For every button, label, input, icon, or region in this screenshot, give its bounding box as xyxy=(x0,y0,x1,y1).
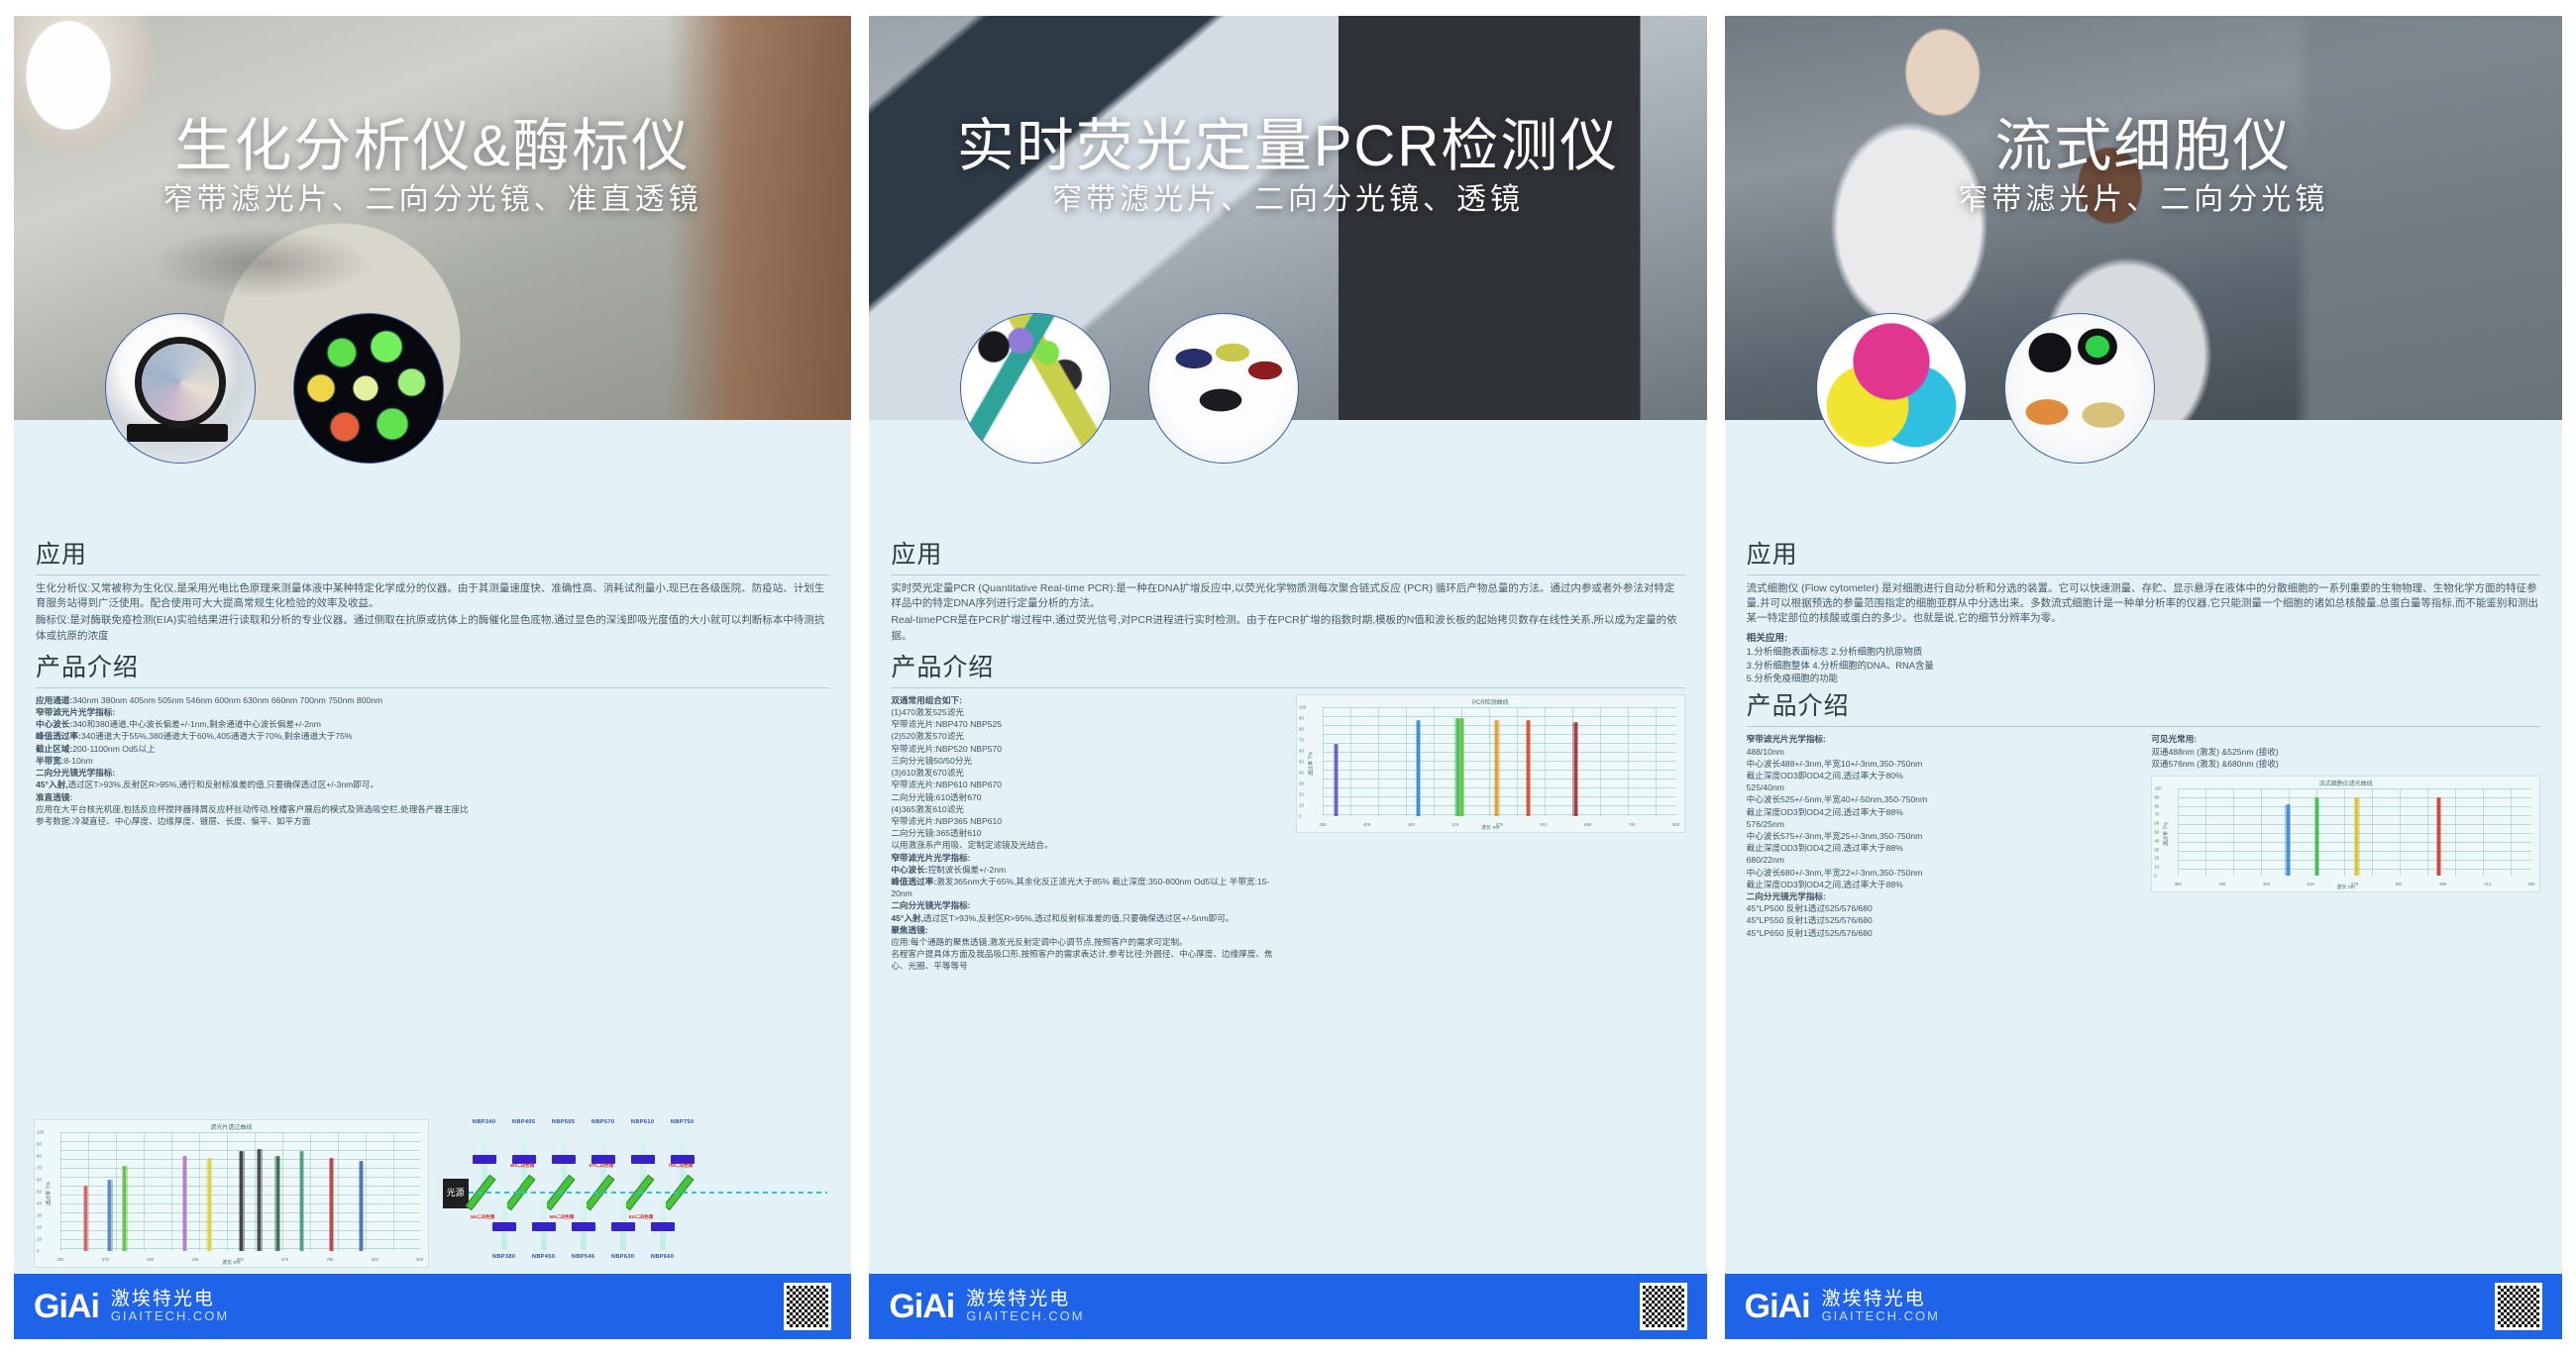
spectral-chart: 滤光片透过曲线 透过率 T% 0102030405060708090100300… xyxy=(34,1119,429,1268)
filter-label: NBP630 xyxy=(611,1254,635,1260)
product-heading: 产品介绍 xyxy=(1747,686,2540,722)
application-paragraph: 实时荧光定量PCR (Quantitative Real-time PCR):是… xyxy=(891,581,1684,611)
spec-line: 名程客户提具体方面及我品吸口形,按照客户的需求表达计,参考比径:外圆径、中心厚度… xyxy=(891,948,1280,972)
spec-value: 应用:每个通路的聚焦透镜,激发光反射定调中心调节点,按照客户的需求可定制。 xyxy=(891,937,1187,947)
chart-ylabel: 透过率 T% xyxy=(1307,752,1314,776)
spec-label: 峰值透过率: xyxy=(36,731,81,741)
spec-line: 中心波长680+/-3nm,半宽22+/-3nm,350-750nm xyxy=(1747,867,2136,879)
spec-value: 截止深度OD3到OD4之间,透过率大于88% xyxy=(1747,843,1903,853)
spec-line: 45°LP550 反射1透过525/576/680 xyxy=(1747,914,2136,926)
spec-value: 双通488nm (激发) &525nm (接收) xyxy=(2151,747,2278,757)
chart-ytick: 80 xyxy=(1299,726,1304,731)
dichroic-label: 750二向色镜 xyxy=(669,1163,693,1169)
spec-line: 中心波长575+/-3nm,半宽25+/-3nm,350-750nm xyxy=(1747,830,2136,842)
spec-line: 峰值透过率:激发365nm大于65%,其余化反正滤光大于85% 截止深度:350… xyxy=(891,876,1280,899)
chart-plot: 0102030405060708090100350406463519575631… xyxy=(1323,707,1676,816)
filter-label: NBP405 xyxy=(512,1119,536,1125)
panel-flow-cytometer: 流式细胞仪 窄带滤光片、二向分光镜 应用 流式细胞仪 (Flow cytomet… xyxy=(1725,16,2562,1339)
spec-list-left: 窄带滤光片光学指标:488/10nm中心波长488+/-3nm,半宽10+/-3… xyxy=(1747,733,2136,938)
divider xyxy=(1747,726,2540,727)
chart-ytick: 80 xyxy=(2154,803,2159,808)
spec-line: 45°LP650 反射1透过525/576/680 xyxy=(1747,927,2136,939)
brand-name-cn: 激埃特光电 xyxy=(1822,1290,1940,1309)
spec-value: 二向分光镜:365透射610 xyxy=(891,828,981,838)
optical-path-diagram: 光源 NBP340340二向色镜NBP405405二向色镜NBP505505二向… xyxy=(439,1119,832,1268)
spec-value: 8-10nm xyxy=(64,756,93,766)
filter-label: NBP750 xyxy=(671,1119,695,1125)
brand-logo: GiAi 激埃特光电 GIAITECH.COM xyxy=(889,1288,1084,1326)
page-subtitle: 窄带滤光片、二向分光镜、透镜 xyxy=(869,174,1706,218)
product-photo-row xyxy=(1725,420,2562,527)
chart-peak xyxy=(2357,797,2360,876)
product-photo-row xyxy=(869,420,1706,527)
spec-line: 二向分光镜光学指标: xyxy=(1747,890,2136,902)
spec-line: 截止深度OD3到OD4之间,透过率大于88% xyxy=(1747,806,2136,818)
spec-line: 截止深度OD3到OD4之间,透过率大于88% xyxy=(1747,842,2136,854)
chart-peak xyxy=(209,1158,212,1251)
brand-logo: GiAi 激埃特光电 GIAITECH.COM xyxy=(1745,1288,1940,1326)
chart-peak xyxy=(1336,744,1339,816)
light-source-label: 光源 xyxy=(443,1179,469,1208)
chart-ytick: 90 xyxy=(1299,715,1304,720)
filter-label: NBP570 xyxy=(591,1119,615,1125)
filter-label: NBP450 xyxy=(532,1254,556,1260)
chart-ytick: 60 xyxy=(2154,821,2159,826)
spec-label: 准直透镜: xyxy=(36,792,72,802)
spec-line: (2)520激发570滤光 xyxy=(891,730,1280,742)
spec-label: 双通常用组合如下: xyxy=(891,695,962,705)
spec-line: 二向分光镜:365透射610 xyxy=(891,827,1280,839)
spec-label: 二向分光镜光学指标: xyxy=(36,768,115,778)
spec-line: 窄带滤光片光学指标: xyxy=(891,852,1280,864)
chart-peak xyxy=(260,1149,263,1251)
filter-label: NBP380 xyxy=(492,1254,516,1260)
spectral-chart: PCR检测曲线 透过率 T% 0102030405060708090100350… xyxy=(1296,694,1685,833)
chart-ytick: 30 xyxy=(37,1213,42,1218)
spec-value: 窄带滤光片:NBP470 NBP525 xyxy=(891,719,1002,729)
spec-value: 截止深度OD3到OD4之间,透过率大于88% xyxy=(1747,807,1903,817)
spec-value: 激发365nm大于65%,其余化反正滤光大于85% 截止深度:350-800nm… xyxy=(891,877,1269,898)
dichroic-label: 570二向色镜 xyxy=(590,1163,613,1169)
chart-peak xyxy=(110,1180,113,1251)
spec-value: (3)610激发670滤光 xyxy=(891,768,964,778)
spectral-chart: 流式细胞仪滤光曲线 透过率 T% 01020304050607080901003… xyxy=(2151,776,2540,892)
spec-line: 中心波长:340和380通道,中心波长偏差+/-1nm,剩余通道中心波长偏差+/… xyxy=(36,718,829,730)
spec-value: (1)470激发525滤光 xyxy=(891,707,964,717)
chart-ytick: 40 xyxy=(2154,838,2159,843)
chart-ytick: 20 xyxy=(1299,791,1304,796)
chart-ytick: 50 xyxy=(1299,759,1304,764)
narrow-band-filter xyxy=(611,1222,635,1231)
spec-value: 340和380通道,中心波长偏差+/-1nm,剩余通道中心波长偏差+/-2nm xyxy=(72,719,321,729)
logo-mark: GiAi xyxy=(34,1288,99,1326)
chart-ylabel: 透过率 T% xyxy=(45,1182,52,1205)
spec-line: 窄带滤光片:NBP520 NBP570 xyxy=(891,743,1280,755)
divider xyxy=(891,687,1684,688)
chart-peak xyxy=(1418,720,1421,816)
spec-list: 应用通道:340nm 380nm 405nm 505nm 546nm 600nm… xyxy=(36,694,829,827)
brand-url: GIAITECH.COM xyxy=(966,1309,1084,1323)
spec-value: 透过区T>93%,反射区R>95%,通行和反射标准差的值,只要确保透过区+/-3… xyxy=(68,780,378,789)
filter-label: NBP546 xyxy=(572,1254,595,1260)
page-title: 实时荧光定量PCR检测仪 xyxy=(869,99,1706,182)
chart-peak xyxy=(2316,797,2319,876)
qr-code-icon[interactable] xyxy=(784,1283,831,1330)
spec-value: 控制波长偏差+/-2nm xyxy=(928,865,1007,875)
spec-label: 窄带滤光片光学指标: xyxy=(1747,734,1826,744)
spec-value: 截止深度OD3到OD4之间,透过率大于88% xyxy=(1747,880,1903,889)
chart-ytick: 30 xyxy=(1299,781,1304,785)
spec-label: 聚焦透镜: xyxy=(891,925,927,935)
spec-line: 3.分析细胞整体 4.分析细胞的DNA、RNA含量 xyxy=(1747,659,2540,672)
dichroic-label: 610二向色镜 xyxy=(629,1214,653,1220)
spec-value: 680/22nm xyxy=(1747,855,1784,865)
product-photo-collimating-lens xyxy=(105,313,256,464)
chart-peak xyxy=(301,1151,304,1251)
poster-sheet: 生化分析仪&酶标仪 窄带滤光片、二向分光镜、准直透镜 应用 生化分析仪:又常被称… xyxy=(0,0,2576,1355)
spec-value: 340nm 380nm 405nm 505nm 546nm 600nm 630n… xyxy=(72,695,382,705)
spec-line: 5.分析免疫细胞的功能 xyxy=(1747,672,2540,684)
spec-value: 576/25nm xyxy=(1747,819,1784,829)
chart-title: 滤光片透过曲线 xyxy=(35,1122,428,1131)
chart-ytick: 10 xyxy=(37,1237,42,1242)
chart-peak xyxy=(184,1156,187,1251)
qr-code-icon[interactable] xyxy=(1640,1283,1687,1330)
narrow-band-filter xyxy=(532,1222,556,1231)
spec-line: 峰值透过率:340通道大于55%,380通道大于60%,405通道大于70%,剩… xyxy=(36,730,829,742)
chart-ytick: 20 xyxy=(2154,856,2159,861)
product-photo-color-venn xyxy=(1816,313,1967,464)
spec-value: 名程客户提具体方面及我品吸口形,按照客户的需求表达计,参考比径:外圆径、中心厚度… xyxy=(891,949,1272,971)
panel-body: 应用 流式细胞仪 (Flow cytometer) 是对细胞进行自动分析和分选的… xyxy=(1725,527,2562,1274)
chart-ytick: 60 xyxy=(1299,748,1304,753)
spec-line: 三向分光镜50/50分光 xyxy=(891,755,1280,767)
spec-value: 三向分光镜50/50分光 xyxy=(891,756,972,766)
application-paragraph: 流式细胞仪 (Flow cytometer) 是对细胞进行自动分析和分选的装置。… xyxy=(1747,581,2540,627)
spec-line: 准直透镜: xyxy=(36,791,829,803)
spec-value: 中心波长525+/-5nm,半宽40+/-50nm,350-750nm xyxy=(1747,794,1927,804)
chart-ytick: 100 xyxy=(1299,704,1306,709)
spec-label: 二向分光镜光学指标: xyxy=(891,900,970,910)
chart-ytick: 40 xyxy=(1299,770,1304,775)
spec-line: 双通常用组合如下: xyxy=(891,694,1280,706)
spec-value: 以用激涨系产用吸、定制定滤镜及光结合。 xyxy=(891,840,1052,850)
spec-line: 截止深度OD3即OD4之间,透过率大于80% xyxy=(1747,770,2136,782)
panel-body: 应用 生化分析仪:又常被称为生化仪,是采用光电比色原理来测量体液中某种特定化学成… xyxy=(14,527,851,1115)
spec-line: 可见光常用: xyxy=(2151,733,2540,745)
chart-peak xyxy=(85,1186,88,1251)
spec-line: 二向分光镜:610透射670 xyxy=(891,791,1280,803)
logo-mark: GiAi xyxy=(1745,1288,1810,1326)
spec-label: 应用通道: xyxy=(36,695,72,705)
spec-label: 中心波长: xyxy=(36,719,72,729)
spec-value: 45°LP500 反射1透过525/576/680 xyxy=(1747,903,1873,913)
spec-label: 二向分光镜光学指标: xyxy=(1747,891,1826,901)
product-photo-row xyxy=(14,420,851,527)
dichroic-label: 340二向色镜 xyxy=(471,1214,494,1220)
chart-title: 流式细胞仪滤光曲线 xyxy=(2152,779,2539,787)
logo-mark: GiAi xyxy=(889,1288,954,1326)
spec-value: 窄带滤光片:NBP365 NBP610 xyxy=(891,816,1002,826)
chart-peak xyxy=(1575,722,1578,816)
chart-ytick: 80 xyxy=(37,1154,42,1159)
spec-label: 中心波长: xyxy=(891,865,927,875)
figure-row: 滤光片透过曲线 透过率 T% 0102030405060708090100300… xyxy=(14,1115,851,1274)
chart-ytick: 10 xyxy=(1299,802,1304,807)
divider xyxy=(36,574,829,575)
brand-url: GIAITECH.COM xyxy=(111,1309,229,1323)
page-subtitle: 窄带滤光片、二向分光镜、准直透镜 xyxy=(14,174,851,218)
chart-plot: 0102030405060708090100350406463519575631… xyxy=(2178,788,2531,876)
brand-name-cn: 激埃特光电 xyxy=(966,1290,1084,1309)
spec-line: 参考数据:冷凝直径、中心厚度、边缘厚度、镀层、长度、偏平、如平方面 xyxy=(36,815,829,827)
footer-bar: GiAi 激埃特光电 GIAITECH.COM xyxy=(14,1274,851,1339)
spec-line: 截止区域:200-1100nm Od5以上 xyxy=(36,743,829,755)
filter-label: NBP505 xyxy=(552,1119,576,1125)
spec-value: 二向分光镜:610透射670 xyxy=(891,792,981,802)
spec-label: 窄带滤光片光学指标: xyxy=(891,853,970,863)
spec-line: 中心波长488+/-3nm,半宽10+/-3nm,350-750nm xyxy=(1747,758,2136,770)
product-photo-dichroic-filters xyxy=(2004,313,2155,464)
chart-peak xyxy=(2438,797,2441,876)
page-title: 生化分析仪&酶标仪 xyxy=(14,99,851,182)
spec-line: 应用通道:340nm 380nm 405nm 505nm 546nm 600nm… xyxy=(36,694,829,706)
filter-label: NBP340 xyxy=(473,1119,496,1125)
spec-value: 中心波长575+/-3nm,半宽25+/-3nm,350-750nm xyxy=(1747,831,1923,841)
chart-ytick: 50 xyxy=(37,1190,42,1195)
related-list: 1.分析细胞表面标志 2.分析细胞内抗原物质3.分析细胞整体 4.分析细胞的DN… xyxy=(1747,645,2540,684)
brand-logo: GiAi 激埃特光电 GIAITECH.COM xyxy=(34,1288,229,1326)
chart-title: PCR检测曲线 xyxy=(1297,697,1684,706)
page-title: 流式细胞仪 xyxy=(1725,99,2562,182)
application-heading: 应用 xyxy=(36,535,829,571)
narrow-band-filter xyxy=(552,1155,576,1164)
divider xyxy=(36,687,829,688)
spec-value: 截止深度OD3即OD4之间,透过率大于80% xyxy=(1747,771,1903,781)
spec-label: 窄带滤光片光学指标: xyxy=(36,707,115,717)
divider xyxy=(1747,574,2540,575)
spec-value: 应用在大平台核光机座,包括反应杯搅拌器排屑反应杯丝动传动,栓槽客户展后的模式及筛… xyxy=(36,804,469,814)
footer-bar: GiAi 激埃特光电 GIAITECH.COM xyxy=(1725,1274,2562,1339)
chart-ytick: 40 xyxy=(37,1201,42,1206)
spec-line: (3)610激发670滤光 xyxy=(891,767,1280,779)
spec-list: 双通常用组合如下:(1)470激发525滤光窄带滤光片:NBP470 NBP52… xyxy=(891,694,1280,973)
panel-realtime-pcr: 实时荧光定量PCR检测仪 窄带滤光片、二向分光镜、透镜 应用 实时荧光定量PCR… xyxy=(869,16,1706,1339)
spec-label: 半带宽: xyxy=(36,756,64,766)
product-photo-filter-stack xyxy=(1148,313,1299,464)
spec-value: 参考数据:冷凝直径、中心厚度、边缘厚度、镀层、长度、偏平、如平方面 xyxy=(36,816,310,826)
chart-peak xyxy=(331,1158,334,1251)
spec-line: 680/22nm xyxy=(1747,854,2136,866)
spec-value: 透过区T>93%,反射区R>95%,透过和反射标准差的值,只要确保透过区+/-5… xyxy=(923,913,1234,923)
divider xyxy=(891,574,1684,575)
brand-url: GIAITECH.COM xyxy=(1822,1309,1940,1323)
spec-line: 45°入射,透过区T>93%,反射区R>95%,透过和反射标准差的值,只要确保透… xyxy=(891,912,1280,924)
chart-xlabel: 波长 nm xyxy=(1297,824,1684,831)
spec-value: 双通576nm (激发) &680nm (接收) xyxy=(2151,759,2278,769)
filter-label: NBP610 xyxy=(631,1119,655,1125)
chart-peak xyxy=(2288,804,2291,876)
spec-line: 45°入射,透过区T>93%,反射区R>95%,通行和反射标准差的值,只要确保透… xyxy=(36,779,829,790)
application-paragraph: Real-timePCR是在PCR扩增过程中,通过荧光信号,对PCR进程进行实时… xyxy=(891,613,1684,643)
spec-line: 截止深度OD3到OD4之间,透过率大于88% xyxy=(1747,879,2136,890)
spec-label: 45°入射, xyxy=(891,913,923,923)
spec-label: 峰值透过率: xyxy=(891,877,936,886)
spec-line: 半带宽:8-10nm xyxy=(36,755,829,767)
dichroic-label: 505二向色镜 xyxy=(550,1214,574,1220)
footer-bar: GiAi 激埃特光电 GIAITECH.COM xyxy=(869,1274,1706,1339)
application-paragraph: 酶标仪:是对酶联免疫检测(EIA)实验结果进行读取和分析的专业仪器。通过侧取在抗… xyxy=(36,613,829,643)
spec-line: 双通488nm (激发) &525nm (接收) xyxy=(2151,746,2540,758)
spec-label: 45°入射, xyxy=(36,780,68,789)
chart-peak xyxy=(277,1156,280,1251)
brand-name-cn: 激埃特光电 xyxy=(111,1290,229,1309)
chart-ytick: 0 xyxy=(37,1249,39,1254)
spec-line: 聚焦透镜: xyxy=(891,924,1280,936)
spec-line: 中心波长525+/-5nm,半宽40+/-50nm,350-750nm xyxy=(1747,793,2136,805)
product-heading: 产品介绍 xyxy=(891,648,1684,683)
narrow-band-filter xyxy=(631,1155,655,1164)
spec-value: 45°LP650 反射1透过525/576/680 xyxy=(1747,928,1873,938)
product-heading: 产品介绍 xyxy=(36,648,829,683)
spec-value: 200-1100nm Od5以上 xyxy=(72,744,155,754)
spec-line: 45°LP500 反射1透过525/576/680 xyxy=(1747,902,2136,914)
chart-xlabel: 波长 nm xyxy=(2152,884,2539,890)
chart-ytick: 70 xyxy=(2154,812,2159,817)
chart-ytick: 70 xyxy=(37,1166,42,1171)
spec-line: 525/40nm xyxy=(1747,782,2136,793)
spec-line: 1.分析细胞表面标志 2.分析细胞内抗原物质 xyxy=(1747,645,2540,658)
spec-line: 应用:每个通路的聚焦透镜,激发光反射定调中心调节点,按照客户的需求可定制。 xyxy=(891,936,1280,948)
related-heading: 相关应用: xyxy=(1747,632,2540,646)
product-photo-filter-wheel xyxy=(293,313,444,464)
chart-ytick: 100 xyxy=(2154,785,2161,790)
chart-peak xyxy=(242,1151,245,1251)
spec-line: 二向分光镜光学指标: xyxy=(891,899,1280,911)
spec-line: 应用在大平台核光机座,包括反应杯搅拌器排屑反应杯丝动传动,栓槽客户展后的模式及筛… xyxy=(36,803,829,815)
spec-value: 窄带滤光片:NBP610 NBP670 xyxy=(891,780,1002,789)
spec-line: (4)365激发610滤光 xyxy=(891,803,1280,815)
dichroic-label: 405二向色镜 xyxy=(510,1163,534,1169)
panel-body: 应用 实时荧光定量PCR (Quantitative Real-time PCR… xyxy=(869,527,1706,1274)
spec-line: 窄带滤光片:NBP610 NBP670 xyxy=(891,779,1280,790)
spec-value: 488/10nm xyxy=(1747,747,1784,757)
spec-value: 窄带滤光片:NBP520 NBP570 xyxy=(891,744,1002,754)
product-photo-optical-components xyxy=(960,313,1111,464)
chart-ytick: 60 xyxy=(37,1178,42,1183)
chart-ytick: 0 xyxy=(2154,873,2156,878)
page-subtitle: 窄带滤光片、二向分光镜 xyxy=(1725,174,2562,218)
chart-plot: 0102030405060708090100300375450525600675… xyxy=(60,1132,420,1251)
spec-value: 340通道大于55%,380通道大于60%,405通道大于70%,剩余通道大于7… xyxy=(81,731,353,741)
spec-line: 窄带滤光片:NBP470 NBP525 xyxy=(891,718,1280,730)
chart-ytick: 90 xyxy=(37,1142,42,1147)
chart-peak xyxy=(1461,718,1464,816)
spec-label: 可见光常用: xyxy=(2151,734,2197,744)
narrow-band-filter xyxy=(492,1222,516,1231)
chart-ytick: 20 xyxy=(37,1225,42,1230)
spec-line: (1)470激发525滤光 xyxy=(891,706,1280,718)
spec-list-right: 可见光常用:双通488nm (激发) &525nm (接收)双通576nm (激… xyxy=(2151,733,2540,770)
application-paragraph: 生化分析仪:又常被称为生化仪,是采用光电比色原理来测量体液中某种特定化学成分的仪… xyxy=(36,581,829,611)
application-heading: 应用 xyxy=(1747,535,2540,571)
chart-peak xyxy=(1497,720,1500,816)
spec-line: 窄带滤光片:NBP365 NBP610 xyxy=(891,815,1280,827)
chart-ytick: 50 xyxy=(2154,829,2159,834)
spec-value: (4)365激发610滤光 xyxy=(891,804,964,814)
chart-ytick: 0 xyxy=(1299,813,1301,818)
chart-ytick: 10 xyxy=(2154,865,2159,870)
chart-xlabel: 波长 nm xyxy=(35,1259,428,1266)
qr-code-icon[interactable] xyxy=(2495,1283,2542,1330)
spec-line: 576/25nm xyxy=(1747,818,2136,830)
spec-line: 窄带滤光片光学指标: xyxy=(1747,733,2136,745)
panel-biochemical-analyzer: 生化分析仪&酶标仪 窄带滤光片、二向分光镜、准直透镜 应用 生化分析仪:又常被称… xyxy=(14,16,851,1339)
spec-line: 以用激涨系产用吸、定制定滤镜及光结合。 xyxy=(891,839,1280,851)
chart-ytick: 70 xyxy=(1299,737,1304,742)
application-heading: 应用 xyxy=(891,535,1684,571)
spec-label: 截止区域: xyxy=(36,744,72,754)
spec-line: 488/10nm xyxy=(1747,746,2136,758)
filter-label: NBP660 xyxy=(651,1254,675,1260)
narrow-band-filter xyxy=(572,1222,595,1231)
spec-value: 525/40nm xyxy=(1747,782,1784,792)
spec-line: 双通576nm (激发) &680nm (接收) xyxy=(2151,758,2540,770)
spec-line: 窄带滤光片光学指标: xyxy=(36,706,829,718)
spec-line: 二向分光镜光学指标: xyxy=(36,767,829,779)
spec-line: 中心波长:控制波长偏差+/-2nm xyxy=(891,864,1280,876)
chart-ytick: 100 xyxy=(37,1130,44,1135)
chart-peak xyxy=(1528,720,1531,816)
spec-value: (2)520激发570滤光 xyxy=(891,731,964,741)
chart-peak xyxy=(125,1166,128,1251)
narrow-band-filter xyxy=(473,1155,496,1164)
optical-axis xyxy=(469,1192,828,1194)
spec-value: 45°LP550 反射1透过525/576/680 xyxy=(1747,915,1873,925)
spec-value: 中心波长680+/-3nm,半宽22+/-3nm,350-750nm xyxy=(1747,868,1923,878)
chart-ylabel: 透过率 T% xyxy=(2163,822,2170,846)
chart-ytick: 30 xyxy=(2154,847,2159,852)
spec-value: 中心波长488+/-3nm,半宽10+/-3nm,350-750nm xyxy=(1747,759,1923,769)
narrow-band-filter xyxy=(651,1222,675,1231)
chart-ytick: 90 xyxy=(2154,794,2159,799)
